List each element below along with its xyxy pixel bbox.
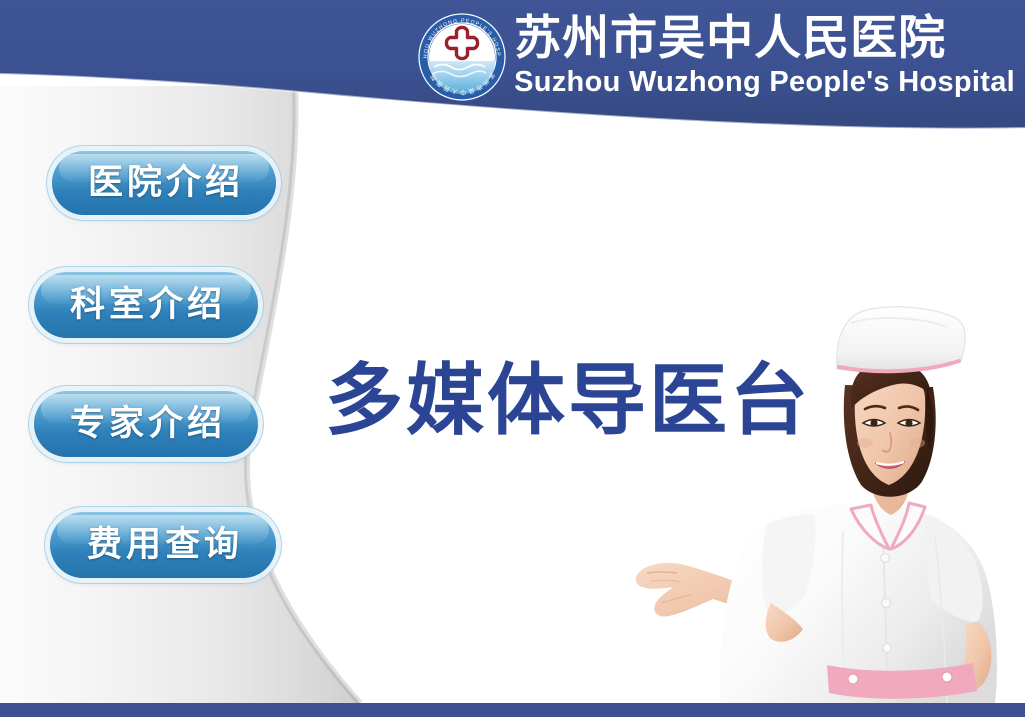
page-title: 多媒体导医台 xyxy=(325,358,811,444)
sidebar-item-hospital-intro[interactable]: 医院介绍 xyxy=(52,151,276,215)
sidebar-item-label: 专家介绍 xyxy=(66,407,226,442)
sidebar-item-expert-intro[interactable]: 专家介绍 xyxy=(34,391,258,457)
sidebar-item-department-intro[interactable]: 科室介绍 xyxy=(34,272,258,338)
sidebar-item-fee-query[interactable]: 费用查询 xyxy=(50,512,276,578)
nurse-figure-image xyxy=(595,273,1025,703)
header-text-block: 苏州市吴中人民医院 Suzhou Wuzhong People's Hospit… xyxy=(514,13,1015,99)
hospital-name-cn: 苏州市吴中人民医院 xyxy=(514,13,946,65)
sidebar-nav: 医院介绍 科室介绍 专家介绍 费用查询 xyxy=(0,0,300,717)
hospital-name-en: Suzhou Wuzhong People's Hospital xyxy=(514,65,1015,99)
sidebar-item-label: 科室介绍 xyxy=(66,288,226,323)
hospital-emblem-icon: SUZHOU WUZHONG PEOPLE'S HOSPITAL 苏州市吴中人民… xyxy=(416,11,508,103)
kiosk-screen: SUZHOU WUZHONG PEOPLE'S HOSPITAL 苏州市吴中人民… xyxy=(0,0,1025,717)
sidebar-item-label: 费用查询 xyxy=(83,528,243,563)
sidebar-item-label: 医院介绍 xyxy=(84,166,244,201)
footer-bar xyxy=(0,703,1025,717)
